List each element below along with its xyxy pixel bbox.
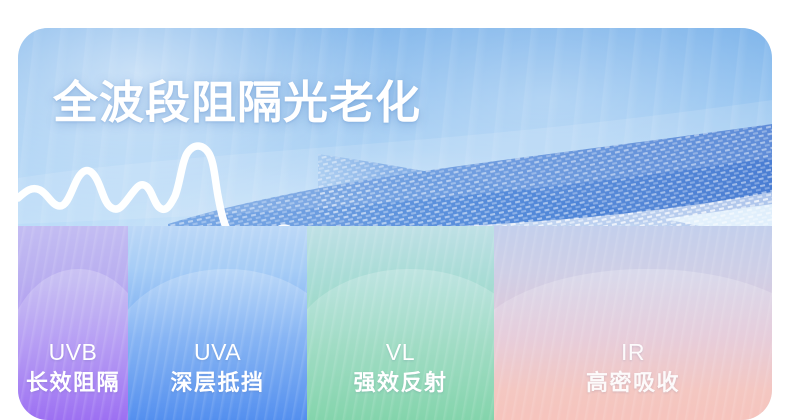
band-label-en-uva: UVA	[194, 337, 241, 367]
spectrum-band-vl[interactable]: VL 强效反射	[307, 226, 494, 420]
band-label-en-vl: VL	[386, 337, 415, 367]
spectrum-band-uva[interactable]: UVA 深层抵挡	[128, 226, 307, 420]
band-label-group-uvb: UVB 长效阻隔	[18, 226, 128, 420]
band-label-group-vl: VL 强效反射	[307, 226, 494, 420]
band-label-cn-vl: 强效反射	[353, 367, 447, 398]
spectrum-bands: UVB 长效阻隔 UVA 深层抵挡 VL 强效反射	[18, 226, 772, 420]
spectrum-band-ir[interactable]: IR 高密吸收	[494, 226, 772, 420]
band-label-cn-uva: 深层抵挡	[170, 367, 264, 398]
band-label-cn-ir: 高密吸收	[586, 367, 680, 398]
page-title: 全波段阻隔光老化	[53, 74, 421, 132]
banner-stage: UVB 长效阻隔 UVA 深层抵挡 VL 强效反射	[0, 0, 790, 420]
band-label-group-ir: IR 高密吸收	[494, 226, 772, 420]
band-label-en-ir: IR	[621, 337, 645, 367]
spectrum-band-uvb[interactable]: UVB 长效阻隔	[18, 226, 128, 420]
band-label-cn-uvb: 长效阻隔	[26, 367, 120, 398]
band-label-group-uva: UVA 深层抵挡	[128, 226, 307, 420]
band-label-en-uvb: UVB	[49, 337, 98, 367]
banner-card: UVB 长效阻隔 UVA 深层抵挡 VL 强效反射	[18, 28, 772, 420]
